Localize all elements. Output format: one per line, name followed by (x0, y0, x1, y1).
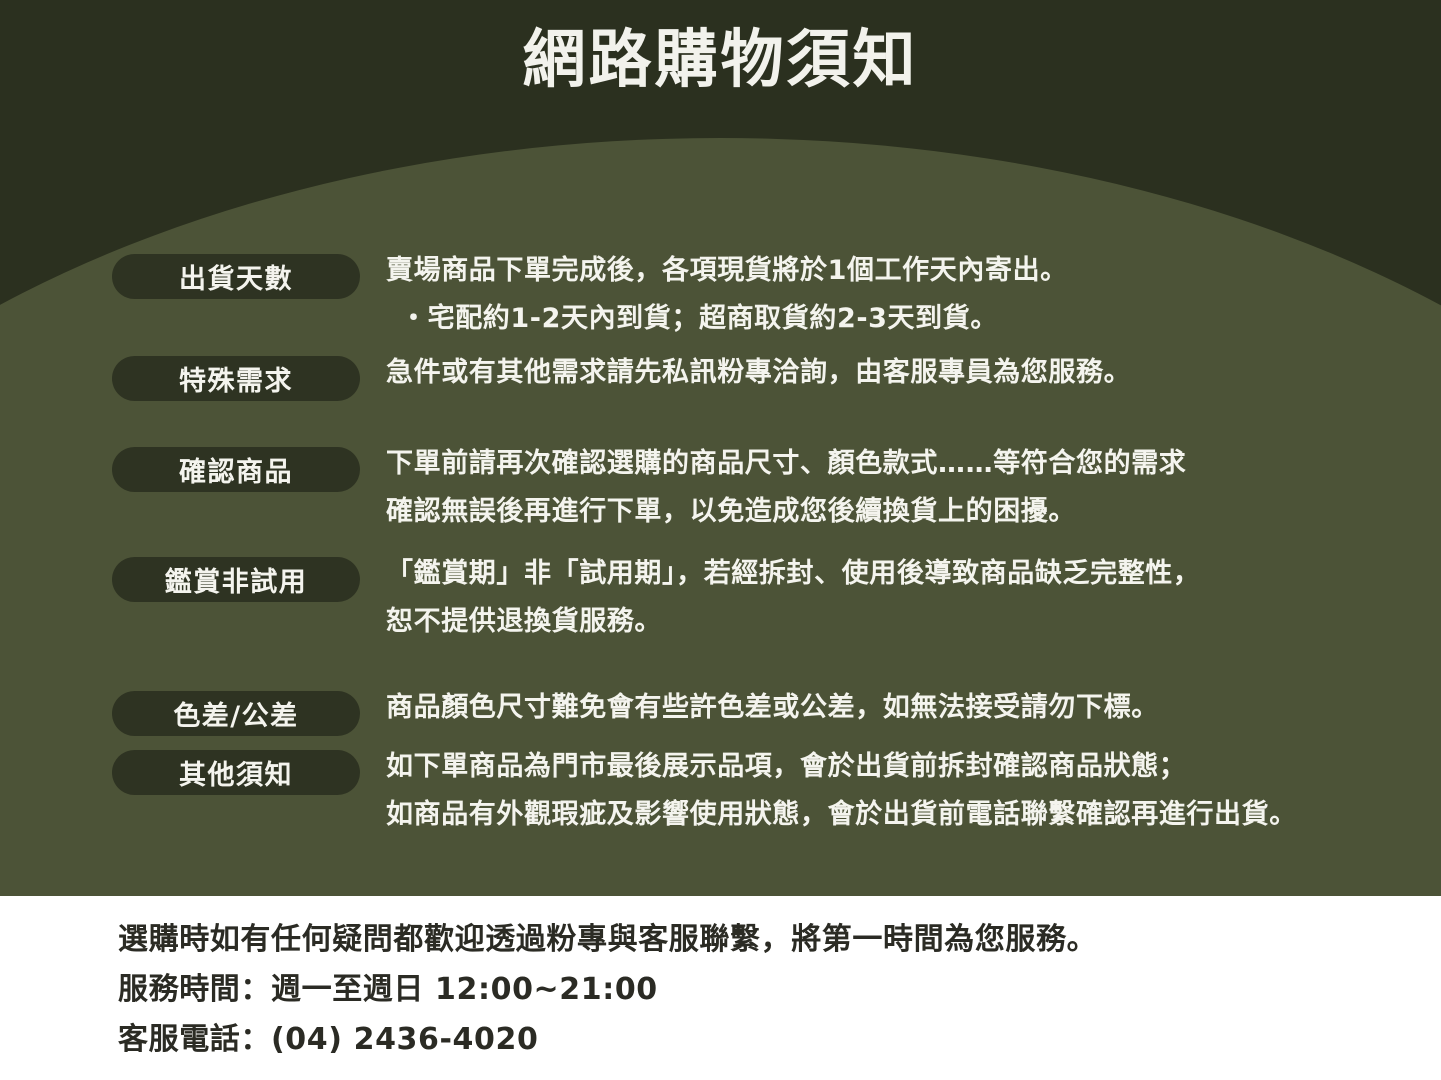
section-label-confirm-product: 確認商品 (112, 447, 360, 492)
section-line: 如下單商品為門市最後展示品項，會於出貨前拆封確認商品狀態； (386, 743, 1297, 791)
section-line: 恕不提供退換貨服務。 (386, 598, 1201, 646)
section-body-confirm-product: 下單前請再次確認選購的商品尺寸、顏色款式……等符合您的需求 確認無誤後再進行下單… (386, 440, 1186, 536)
section-inspection-not-trial: 鑑賞非試用 「鑑賞期」非「試用期」，若經拆封、使用後導致商品缺乏完整性， 恕不提… (112, 557, 1201, 646)
section-special-requests: 特殊需求 急件或有其他需求請先私訊粉專洽詢，由客服專員為您服務。 (112, 356, 1131, 401)
section-body-color-tolerance: 商品顏色尺寸難免會有些許色差或公差，如無法接受請勿下標。 (386, 684, 1159, 732)
section-line: 賣場商品下單完成後，各項現貨將於1個工作天內寄出。 (386, 247, 1068, 295)
section-color-tolerance: 色差/公差 商品顏色尺寸難免會有些許色差或公差，如無法接受請勿下標。 (112, 691, 1159, 736)
footer-content: 選購時如有任何疑問都歡迎透過粉專與客服聯繫，將第一時間為您服務。 服務時間：週一… (118, 915, 1097, 1065)
section-line: 「鑑賞期」非「試用期」，若經拆封、使用後導致商品缺乏完整性， (386, 550, 1201, 598)
section-label-shipping-days: 出貨天數 (112, 254, 360, 299)
footer-service-phone: 客服電話：(04) 2436-4020 (118, 1015, 1097, 1065)
page-title: 網路購物須知 (0, 24, 1441, 96)
section-label-inspection-not-trial: 鑑賞非試用 (112, 557, 360, 602)
section-line: ・宅配約1-2天內到貨；超商取貨約2-3天到貨。 (386, 295, 1068, 343)
section-label-other-notices: 其他須知 (112, 750, 360, 795)
section-body-shipping-days: 賣場商品下單完成後，各項現貨將於1個工作天內寄出。 ・宅配約1-2天內到貨；超商… (386, 247, 1068, 343)
section-line: 商品顏色尺寸難免會有些許色差或公差，如無法接受請勿下標。 (386, 684, 1159, 732)
section-line: 確認無誤後再進行下單，以免造成您後續換貨上的困擾。 (386, 488, 1186, 536)
footer-service-hours: 服務時間：週一至週日 12:00~21:00 (118, 965, 1097, 1015)
footer-contact-invite: 選購時如有任何疑問都歡迎透過粉專與客服聯繫，將第一時間為您服務。 (118, 915, 1097, 965)
section-body-inspection-not-trial: 「鑑賞期」非「試用期」，若經拆封、使用後導致商品缺乏完整性， 恕不提供退換貨服務… (386, 550, 1201, 646)
section-shipping-days: 出貨天數 賣場商品下單完成後，各項現貨將於1個工作天內寄出。 ・宅配約1-2天內… (112, 254, 1068, 343)
section-label-color-tolerance: 色差/公差 (112, 691, 360, 736)
hero-panel: 網路購物須知 出貨天數 賣場商品下單完成後，各項現貨將於1個工作天內寄出。 ・宅… (0, 0, 1441, 896)
section-confirm-product: 確認商品 下單前請再次確認選購的商品尺寸、顏色款式……等符合您的需求 確認無誤後… (112, 447, 1186, 536)
section-other-notices: 其他須知 如下單商品為門市最後展示品項，會於出貨前拆封確認商品狀態； 如商品有外… (112, 750, 1297, 839)
section-line: 急件或有其他需求請先私訊粉專洽詢，由客服專員為您服務。 (386, 349, 1131, 397)
section-line: 下單前請再次確認選購的商品尺寸、顏色款式……等符合您的需求 (386, 440, 1186, 488)
section-label-special-requests: 特殊需求 (112, 356, 360, 401)
section-line: 如商品有外觀瑕疵及影響使用狀態，會於出貨前電話聯繫確認再進行出貨。 (386, 791, 1297, 839)
section-body-other-notices: 如下單商品為門市最後展示品項，會於出貨前拆封確認商品狀態； 如商品有外觀瑕疵及影… (386, 743, 1297, 839)
notice-page: 網路購物須知 出貨天數 賣場商品下單完成後，各項現貨將於1個工作天內寄出。 ・宅… (0, 0, 1441, 1080)
footer-panel: 選購時如有任何疑問都歡迎透過粉專與客服聯繫，將第一時間為您服務。 服務時間：週一… (0, 896, 1441, 1080)
section-body-special-requests: 急件或有其他需求請先私訊粉專洽詢，由客服專員為您服務。 (386, 349, 1131, 397)
